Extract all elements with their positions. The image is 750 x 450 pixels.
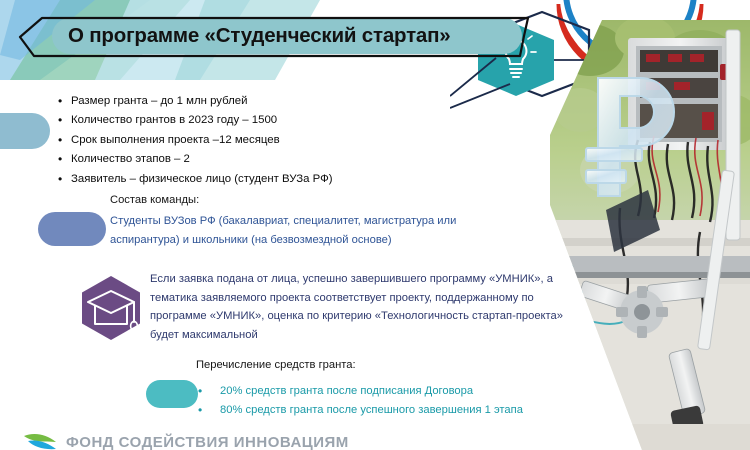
funds-heading: Перечисление средств гранта: [196, 357, 356, 374]
list-item: • Размер гранта – до 1 млн рублей [58, 92, 488, 111]
team-heading: Состав команды: [110, 192, 530, 209]
bullet-marker: • [58, 150, 71, 169]
list-item: • Количество грантов в 2023 году – 1500 [58, 111, 488, 130]
ruble-symbol-decoration [570, 62, 700, 207]
umnik-note-text: Если заявка подана от лица, успешно заве… [150, 270, 570, 344]
russian-flag-arc-icon [560, 0, 700, 74]
bullet-marker: • [58, 92, 71, 111]
bullet-marker: • [198, 401, 220, 420]
slide-title-band: О программе «Студенческий стартап» [12, 16, 532, 58]
bullet-marker: • [58, 170, 71, 189]
list-item-label: 80% средств гранта после успешного завер… [220, 401, 523, 420]
page-title: О программе «Студенческий стартап» [68, 21, 528, 51]
list-item-label: Количество грантов в 2023 году – 1500 [71, 111, 277, 130]
bullet-marker: • [58, 131, 71, 150]
decorative-pill-light-blue [0, 113, 50, 149]
bullet-marker: • [58, 111, 71, 130]
list-item: • Срок выполнения проекта –12 месяцев [58, 131, 488, 150]
footer-wordmark: ФОНД СОДЕЙСТВИЯ ИННОВАЦИЯМ [66, 434, 349, 450]
decorative-pill-team [38, 212, 106, 246]
footer-logo: ФОНД СОДЕЙСТВИЯ ИННОВАЦИЯМ [22, 430, 232, 450]
key-facts-list: • Размер гранта – до 1 млн рублей • Коли… [58, 92, 488, 189]
list-item-label: Срок выполнения проекта –12 месяцев [71, 131, 280, 150]
list-item-label: 20% средств гранта после подписания Дого… [220, 382, 473, 401]
list-item-label: Заявитель – физическое лицо (студент ВУЗ… [71, 170, 333, 189]
bullet-marker: • [198, 382, 220, 401]
list-item-label: Размер гранта – до 1 млн рублей [71, 92, 247, 111]
leaf-wing-logo-icon [22, 430, 60, 450]
list-item: • 80% средств гранта после успешного зав… [198, 401, 598, 420]
slide-canvas: О программе «Студенческий стартап» • Раз… [0, 0, 750, 450]
list-item: • 20% средств гранта после подписания До… [198, 382, 598, 401]
list-item: • Количество этапов – 2 [58, 150, 488, 169]
team-body-text: Студенты ВУЗов РФ (бакалавриат, специали… [110, 212, 510, 250]
list-item: • Заявитель – физическое лицо (студент В… [58, 170, 488, 189]
list-item-label: Количество этапов – 2 [71, 150, 190, 169]
graduation-cap-hexagon-icon [78, 274, 144, 342]
team-composition-block: Состав команды: Студенты ВУЗов РФ (бакал… [110, 192, 530, 250]
decorative-pill-funds [146, 380, 198, 408]
funds-list: • 20% средств гранта после подписания До… [198, 382, 598, 419]
